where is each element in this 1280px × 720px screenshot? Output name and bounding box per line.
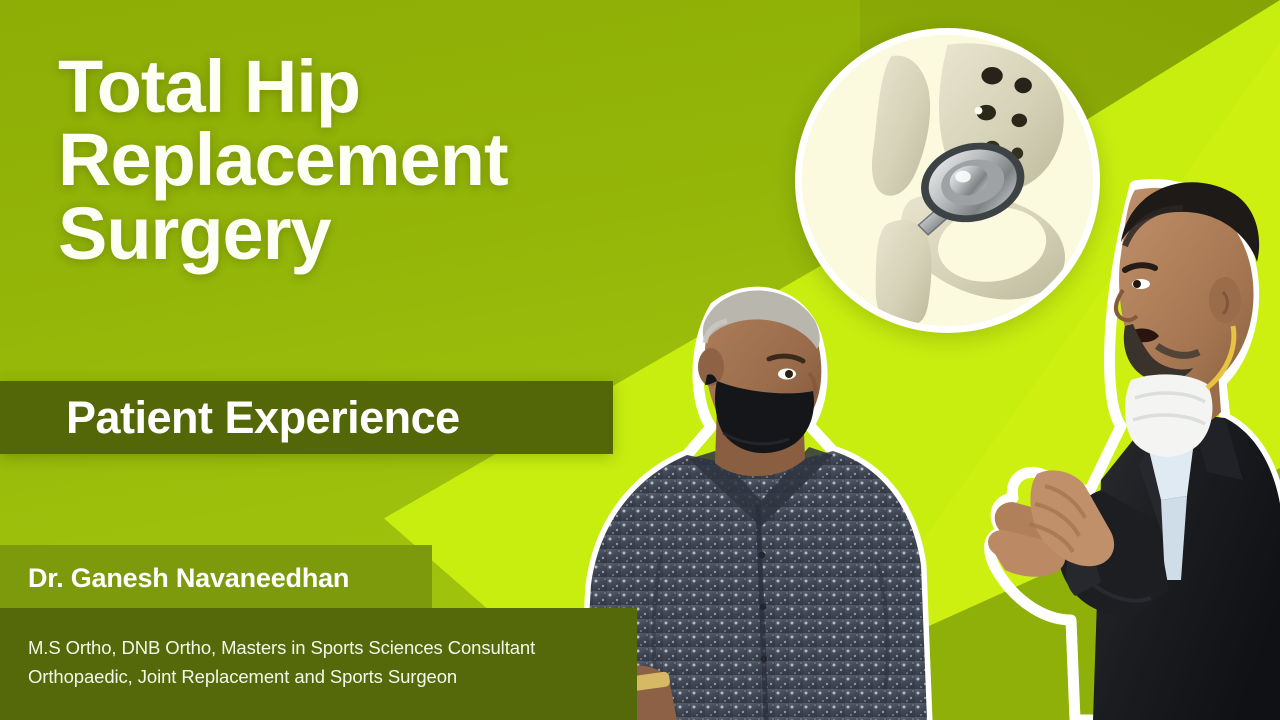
page-title: Total Hip Replacement Surgery — [58, 50, 678, 270]
credentials-banner: M.S Ortho, DNB Ortho, Masters in Sports … — [0, 608, 637, 720]
subtitle-banner: Patient Experience — [0, 381, 613, 454]
doctor-name-banner: Dr. Ganesh Navaneedhan — [0, 545, 432, 611]
doctor-illustration — [925, 150, 1280, 720]
doctor-name-text: Dr. Ganesh Navaneedhan — [28, 565, 349, 592]
credentials-text: M.S Ortho, DNB Ortho, Masters in Sports … — [28, 634, 628, 691]
video-thumbnail: Total Hip Replacement Surgery Patient Ex… — [0, 0, 1280, 720]
doctor-figure — [925, 150, 1280, 720]
subtitle-text: Patient Experience — [66, 395, 460, 440]
